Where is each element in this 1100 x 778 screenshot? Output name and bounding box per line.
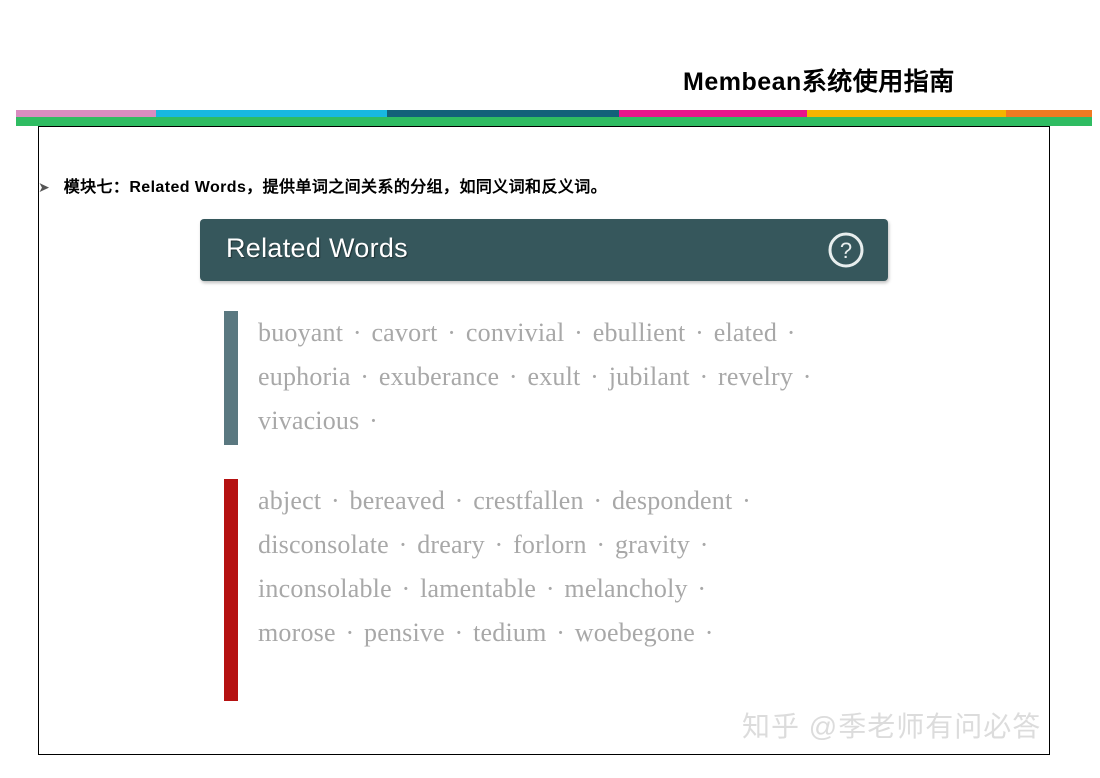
- word-separator: ·: [690, 362, 718, 391]
- related-word[interactable]: revelry: [718, 362, 793, 391]
- word-group-color-bar: [224, 311, 238, 445]
- word-separator: ·: [321, 486, 349, 515]
- related-word[interactable]: exult: [527, 362, 580, 391]
- related-word[interactable]: euphoria: [258, 362, 351, 391]
- related-word[interactable]: morose: [258, 618, 336, 647]
- accent-rule-segment-deep-teal: [387, 110, 618, 117]
- related-word[interactable]: vivacious: [258, 406, 359, 435]
- related-word[interactable]: jubilant: [609, 362, 690, 391]
- word-separator: ·: [695, 618, 717, 647]
- word-separator: ·: [499, 362, 527, 391]
- word-group: abject · bereaved · crestfallen · despon…: [224, 479, 784, 701]
- related-word[interactable]: woebegone: [575, 618, 695, 647]
- word-separator: ·: [685, 318, 713, 347]
- accent-rule-underline: [16, 117, 1092, 126]
- word-separator: ·: [536, 574, 564, 603]
- related-word[interactable]: exuberance: [379, 362, 499, 391]
- related-word[interactable]: gravity: [615, 530, 690, 559]
- related-word[interactable]: lamentable: [420, 574, 536, 603]
- related-words-title: Related Words: [226, 233, 408, 264]
- svg-text:?: ?: [840, 238, 852, 263]
- page-title: Membean系统使用指南: [683, 62, 955, 98]
- accent-rule-segment-magenta: [619, 110, 807, 117]
- word-separator: ·: [336, 618, 364, 647]
- word-separator: ·: [777, 318, 799, 347]
- question-mark-circle-icon[interactable]: ?: [826, 230, 866, 270]
- word-group-color-bar: [224, 479, 238, 701]
- word-separator: ·: [343, 318, 371, 347]
- bullet-item: ➤ 模块七：Related Words，提供单词之间关系的分组，如同义词和反义词…: [38, 173, 607, 197]
- related-word[interactable]: buoyant: [258, 318, 343, 347]
- word-group-words: buoyant · cavort · convivial · ebullient…: [258, 311, 864, 445]
- related-word[interactable]: forlorn: [513, 530, 587, 559]
- word-separator: ·: [580, 362, 608, 391]
- related-word[interactable]: melancholy: [564, 574, 687, 603]
- word-group: buoyant · cavort · convivial · ebullient…: [224, 311, 864, 445]
- related-word[interactable]: cavort: [371, 318, 437, 347]
- accent-rule-segment-orange: [1006, 110, 1092, 117]
- word-separator: ·: [584, 486, 612, 515]
- related-word[interactable]: inconsolable: [258, 574, 392, 603]
- word-separator: ·: [688, 574, 710, 603]
- bullet-arrow-icon: ➤: [38, 179, 50, 196]
- related-word[interactable]: dreary: [417, 530, 485, 559]
- related-word[interactable]: despondent: [612, 486, 732, 515]
- accent-rule-segment-cyan: [156, 110, 387, 117]
- word-separator: ·: [690, 530, 712, 559]
- related-word[interactable]: crestfallen: [473, 486, 583, 515]
- word-separator: ·: [351, 362, 379, 391]
- word-separator: ·: [359, 406, 381, 435]
- related-word[interactable]: pensive: [364, 618, 445, 647]
- watermark: 知乎 @季老师有问必答: [742, 705, 1041, 745]
- related-word[interactable]: elated: [714, 318, 777, 347]
- related-word[interactable]: ebullient: [593, 318, 686, 347]
- accent-rule-segment-amber: [807, 110, 1006, 117]
- related-word[interactable]: convivial: [466, 318, 565, 347]
- word-separator: ·: [564, 318, 592, 347]
- accent-rule-segments: [16, 110, 1092, 117]
- word-separator: ·: [392, 574, 420, 603]
- accent-rule-segment-pink-violet: [16, 110, 156, 117]
- word-group-words: abject · bereaved · crestfallen · despon…: [258, 479, 784, 701]
- word-separator: ·: [445, 618, 473, 647]
- word-separator: ·: [547, 618, 575, 647]
- word-separator: ·: [793, 362, 815, 391]
- word-separator: ·: [445, 486, 473, 515]
- related-word[interactable]: bereaved: [350, 486, 445, 515]
- related-words-header: Related Words ?: [200, 219, 888, 281]
- bullet-item-label: 模块七：Related Words，提供单词之间关系的分组，如同义词和反义词。: [64, 173, 607, 197]
- related-word[interactable]: abject: [258, 486, 321, 515]
- accent-rule: [0, 110, 1100, 126]
- word-separator: ·: [587, 530, 615, 559]
- related-word[interactable]: tedium: [473, 618, 546, 647]
- word-separator: ·: [389, 530, 417, 559]
- word-separator: ·: [732, 486, 754, 515]
- related-word[interactable]: disconsolate: [258, 530, 389, 559]
- word-separator: ·: [438, 318, 466, 347]
- word-separator: ·: [485, 530, 513, 559]
